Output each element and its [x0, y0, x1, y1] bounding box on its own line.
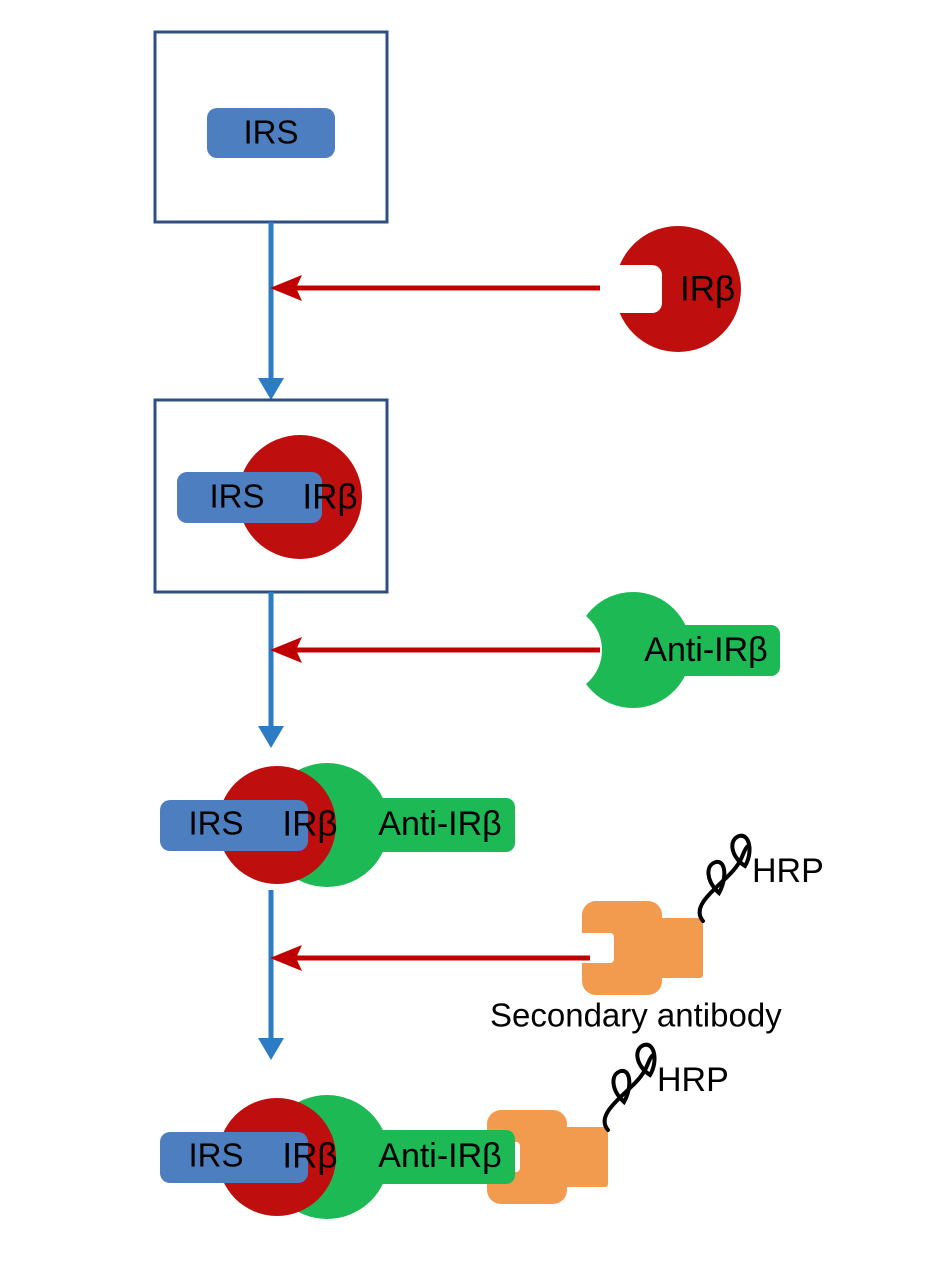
reagent-addition-arrow-3: [270, 945, 590, 971]
irs-label-stage-1: IRS: [243, 114, 298, 151]
reagent-anti-irb-group: Anti-IRβ: [575, 592, 780, 708]
anti-irb-label-stage-4: Anti-IRβ: [378, 1137, 501, 1175]
secondary-antibody-label-reagent: Secondary antibody: [490, 997, 782, 1034]
stage-4-group: HRP IRS IRβ Anti-IRβ: [160, 1045, 729, 1219]
reagent-addition-arrow-2: [270, 637, 600, 663]
diagram-canvas: IRS IRβ IRS IRβ: [0, 0, 934, 1272]
secondary-antibody-stem-stage-4: [560, 1127, 608, 1187]
reagent-addition-arrow-1: [270, 275, 600, 301]
anti-irb-label-reagent: Anti-IRβ: [644, 631, 767, 669]
reagent-irb-group: IRβ: [615, 226, 741, 352]
hrp-label-reagent: HRP: [752, 852, 824, 890]
irs-label-stage-2: IRS: [209, 478, 264, 515]
reagent-secondary-group: HRP Secondary antibody: [490, 836, 824, 1034]
irb-label-reagent: IRβ: [680, 269, 735, 308]
stage-1-group: IRS: [155, 32, 387, 222]
hrp-conjugate-stage-4: [605, 1045, 655, 1130]
secondary-antibody-stem-reagent: [655, 918, 703, 978]
hrp-conjugate-reagent: [700, 836, 750, 921]
irs-label-stage-3: IRS: [188, 805, 243, 842]
stage-3-group: IRS IRβ Anti-IRβ: [160, 763, 515, 887]
elisa-workflow-diagram: IRS IRβ IRS IRβ: [0, 0, 934, 1272]
irb-label-stage-4: IRβ: [282, 1136, 337, 1175]
irb-label-stage-3: IRβ: [282, 804, 337, 843]
process-flow-arrow-2: [258, 592, 284, 748]
stage-2-group: IRS IRβ: [155, 400, 387, 592]
process-flow-arrow-3: [258, 890, 284, 1060]
irb-label-stage-2: IRβ: [302, 477, 357, 516]
anti-irb-label-stage-3: Anti-IRβ: [378, 805, 501, 843]
process-flow-arrow-1: [258, 222, 284, 400]
hrp-label-stage-4: HRP: [657, 1061, 729, 1099]
irs-label-stage-4: IRS: [188, 1137, 243, 1174]
secondary-antibody-body-reagent: [582, 901, 662, 995]
